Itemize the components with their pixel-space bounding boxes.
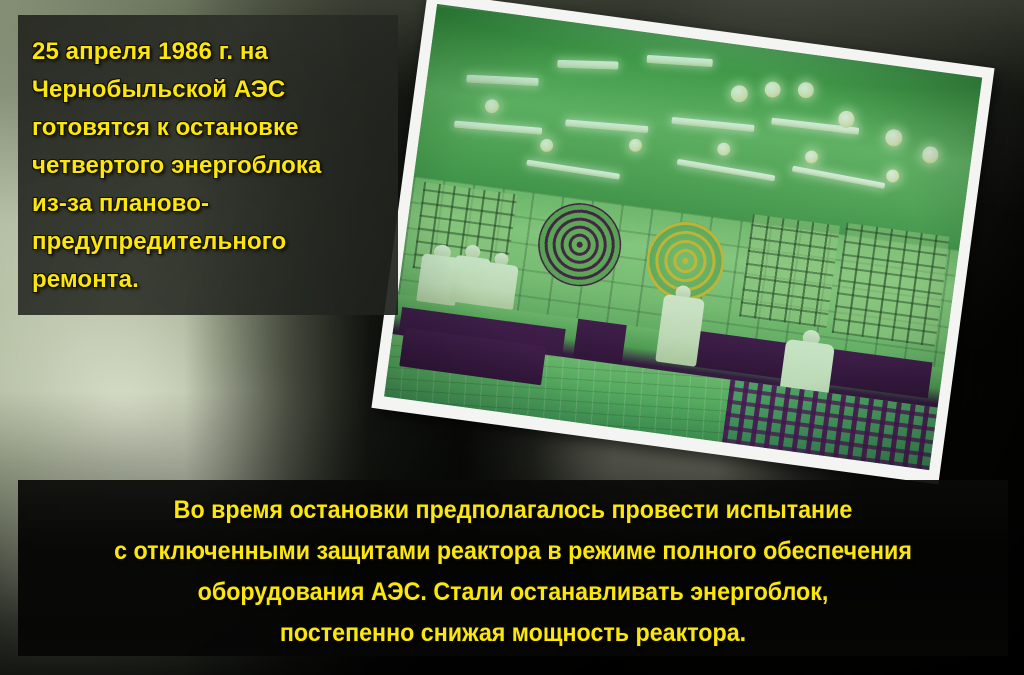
- presentation-slide: 25 апреля 1986 г. на Чернобыльской АЭС г…: [0, 0, 1024, 675]
- bottom-caption-line: с отключенными защитами реактора в режим…: [60, 531, 966, 572]
- top-caption-panel: 25 апреля 1986 г. на Чернобыльской АЭС г…: [18, 15, 398, 315]
- top-caption-line: ремонта.: [32, 261, 384, 299]
- bottom-caption-line: Во время остановки предполагалось провес…: [60, 490, 966, 531]
- top-caption-line: из-за планово-: [32, 185, 384, 223]
- top-caption-line: четвертого энергоблока: [32, 147, 384, 185]
- top-caption-line: 25 апреля 1986 г. на: [32, 33, 384, 71]
- top-caption-line: Чернобыльской АЭС: [32, 71, 384, 109]
- bottom-caption-line: оборудования АЭС. Стали останавливать эн…: [60, 572, 966, 613]
- photo-vignette: [384, 4, 982, 470]
- bottom-caption-line: постепенно снижая мощность реактора.: [60, 613, 966, 654]
- bottom-caption-panel: Во время остановки предполагалось провес…: [18, 480, 1008, 656]
- top-caption-line: готовятся к остановке: [32, 109, 384, 147]
- control-room-photo-frame: [371, 0, 994, 484]
- top-caption-line: предупредительного: [32, 223, 384, 261]
- control-room-photo: [384, 4, 982, 470]
